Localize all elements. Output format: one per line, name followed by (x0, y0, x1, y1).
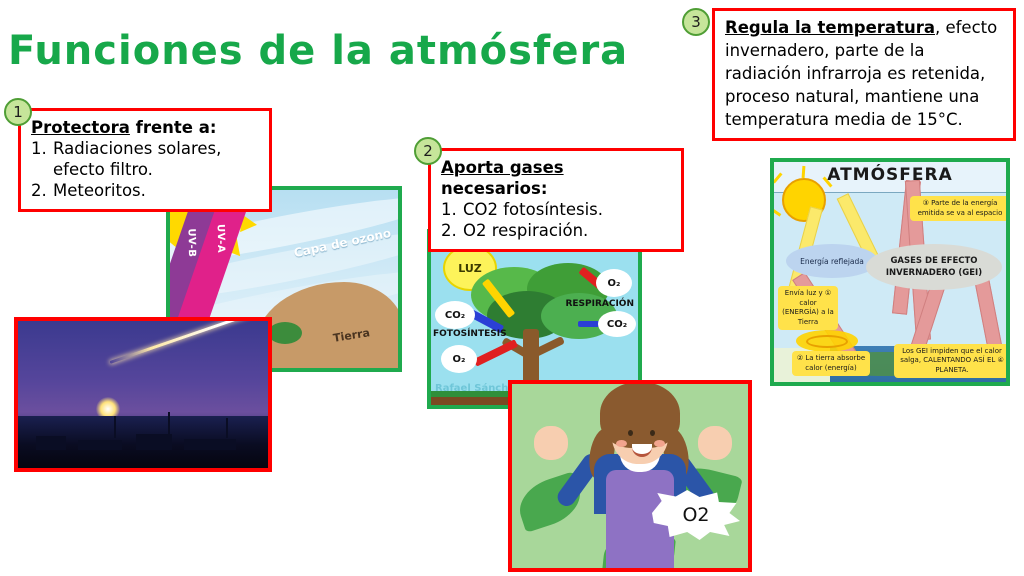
girl-cheek (616, 440, 627, 447)
girl-hand (534, 426, 568, 460)
callout-1-heading-rest: frente a: (130, 118, 217, 137)
co2-label: CO₂ (600, 313, 634, 335)
building-silhouette (36, 436, 66, 450)
list-item-number: 1. (441, 199, 463, 220)
callout-2-list: 1. CO2 fotosíntesis. 2. O2 respiración. (441, 199, 673, 241)
greenhouse-effect-illustration: ATMÓSFERA Energía reflejada GASES DE EFE… (770, 158, 1010, 386)
callout-2-heading-rest: necesarios: (441, 179, 547, 198)
step-badge-3: 3 (682, 8, 710, 36)
meteorite-photo (14, 317, 272, 472)
list-item-number: 2. (441, 220, 463, 241)
note-energy-to-space: ③ Parte de la energía emitida se va al e… (910, 196, 1010, 221)
girl-hair (600, 382, 680, 448)
building-silhouette (136, 434, 172, 450)
callout-box-protectora: Protectora frente a: 1. Radiaciones sola… (18, 108, 272, 212)
co2-label: CO₂ (437, 303, 473, 327)
slide-canvas: Funciones de la atmósfera UV-B UV-A Capa… (0, 0, 1024, 576)
note-gei-traps-heat: Los GEI impiden que el calor salga, CALE… (894, 344, 1010, 379)
girl-eye (650, 430, 655, 436)
gei-cloud-label: GASES DE EFECTO INVERNADERO (GEI) (866, 244, 1002, 290)
list-item: 2. Meteoritos. (31, 180, 261, 201)
girl-hand (698, 426, 732, 460)
girl-eye (628, 430, 633, 436)
list-item: 2. O2 respiración. (441, 220, 673, 241)
note-earth-absorbs: ② La tierra absorbe calor (energía) (792, 351, 870, 376)
respiration-label: RESPIRACIÓN (565, 299, 634, 309)
building-silhouette (184, 439, 236, 450)
page-title: Funciones de la atmósfera (8, 28, 628, 74)
callout-3-heading-bold: Regula la temperatura (725, 18, 935, 37)
breathing-girl-image: O2 (508, 380, 752, 572)
antenna-silhouette (114, 416, 116, 438)
reflected-energy-label: Energía reflejada (786, 244, 878, 278)
list-item-number: 1. (31, 138, 53, 180)
list-item: 1. CO2 fotosíntesis. (441, 199, 673, 220)
building-silhouette (78, 440, 122, 450)
note-sends-light: Envía luz y ① calor (ENERGÍA) a la Tierr… (778, 286, 838, 330)
uva-label: UV-A (215, 224, 227, 253)
co2-output-arrow (578, 321, 600, 327)
o2-label: O₂ (598, 271, 630, 295)
heat-absorption-ring (806, 335, 848, 348)
callout-3-text: Regula la temperatura, efecto invernader… (725, 16, 1005, 131)
callout-1-list: 1. Radiaciones solares, efecto filtro. 2… (31, 138, 261, 201)
bush-shape (268, 322, 302, 344)
step-badge-2: 2 (414, 137, 442, 165)
o2-label: O₂ (443, 347, 475, 371)
callout-2-heading: Aporta gases necesarios: (441, 157, 673, 199)
list-item-number: 2. (31, 180, 53, 201)
callout-2-heading-bold: Aporta gases (441, 158, 564, 177)
antenna-silhouette (168, 412, 170, 438)
list-item-text: CO2 fotosíntesis. (463, 199, 673, 220)
step-badge-1: 1 (4, 98, 32, 126)
callout-box-aporta-gases: Aporta gases necesarios: 1. CO2 fotosínt… (428, 148, 684, 252)
list-item-text: Radiaciones solares, efecto filtro. (53, 138, 261, 180)
girl-cheek (654, 440, 665, 447)
uvb-label: UV-B (185, 228, 197, 257)
list-item-text: Meteoritos. (53, 180, 261, 201)
photosynthesis-label: FOTOSÍNTESIS (433, 329, 507, 339)
callout-1-heading-bold: Protectora (31, 118, 130, 137)
list-item: 1. Radiaciones solares, efecto filtro. (31, 138, 261, 180)
callout-box-regula-temperatura: Regula la temperatura, efecto invernader… (712, 8, 1016, 141)
antenna-silhouette (226, 418, 228, 438)
callout-1-heading: Protectora frente a: (31, 117, 261, 138)
list-item-text: O2 respiración. (463, 220, 673, 241)
